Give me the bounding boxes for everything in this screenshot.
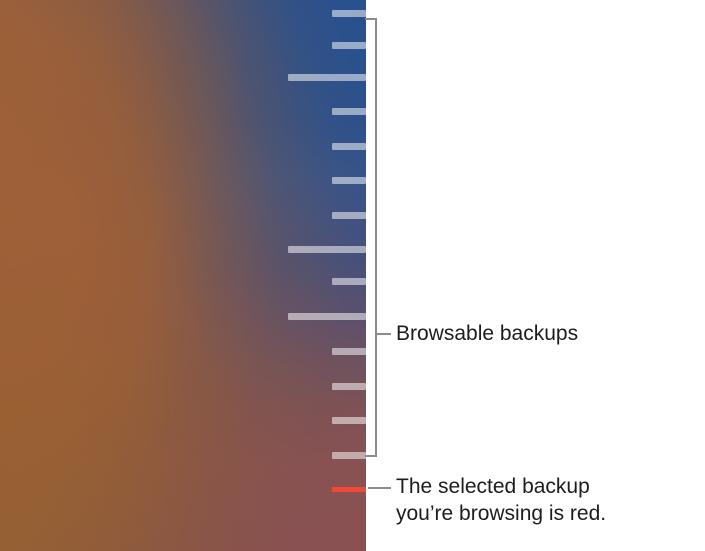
selected-backup-callout: The selected backup you’re browsing is r… bbox=[396, 473, 606, 527]
time-machine-timeline-illustration: September 2024YesterdayTodayNow Browsabl… bbox=[0, 0, 705, 551]
selected-backup-callout-line1: The selected backup bbox=[396, 473, 606, 500]
bracket-vertical-line bbox=[375, 18, 377, 457]
browsable-backups-bracket bbox=[365, 18, 377, 457]
timeline-tick-now-selected[interactable] bbox=[332, 487, 366, 492]
timeline-tick-short-11[interactable] bbox=[332, 383, 366, 390]
bracket-leader-line bbox=[377, 333, 391, 335]
timeline-tick-short-4[interactable] bbox=[332, 143, 366, 150]
timeline-gradient-warm-overlay-secondary bbox=[0, 0, 366, 551]
selected-backup-callout-line2: you’re browsing is red. bbox=[396, 500, 606, 527]
selected-backup-leader-line bbox=[368, 487, 391, 489]
bracket-top-arm bbox=[365, 18, 377, 20]
timeline-tick-short-0[interactable] bbox=[332, 10, 366, 17]
time-machine-timeline-panel[interactable]: September 2024YesterdayTodayNow bbox=[0, 0, 366, 551]
timeline-tick-short-13[interactable] bbox=[332, 452, 366, 459]
timeline-tick-long-9[interactable] bbox=[288, 313, 366, 320]
timeline-tick-short-6[interactable] bbox=[332, 212, 366, 219]
timeline-tick-short-1[interactable] bbox=[332, 42, 366, 49]
timeline-tick-short-3[interactable] bbox=[332, 108, 366, 115]
timeline-tick-short-5[interactable] bbox=[332, 177, 366, 184]
timeline-tick-short-10[interactable] bbox=[332, 348, 366, 355]
timeline-tick-short-12[interactable] bbox=[332, 417, 366, 424]
timeline-tick-short-8[interactable] bbox=[332, 278, 366, 285]
bracket-bottom-arm bbox=[365, 455, 377, 457]
timeline-tick-long-2[interactable] bbox=[288, 74, 366, 81]
timeline-tick-long-7[interactable] bbox=[288, 246, 366, 253]
browsable-backups-callout-text: Browsable backups bbox=[396, 320, 578, 347]
browsable-backups-callout: Browsable backups bbox=[396, 320, 578, 347]
